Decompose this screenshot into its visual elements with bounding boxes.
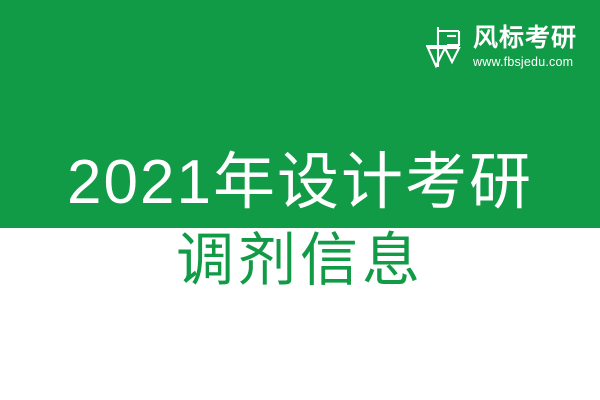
fbs-monogram-icon [423,24,465,70]
bottom-blank-area [0,300,600,400]
brand-url: www.fbsjedu.com [473,54,573,70]
headline-block: 2021年设计考研 调剂信息 [0,148,600,294]
promo-banner: 风标考研 www.fbsjedu.com 2021年设计考研 调剂信息 [0,0,600,400]
brand-text-block: 风标考研 www.fbsjedu.com [473,24,577,70]
brand-name: 风标考研 [473,25,577,52]
headline-line-1: 2021年设计考研 [0,148,600,218]
brand-lockup: 风标考研 www.fbsjedu.com [423,24,577,70]
headline-line-2: 调剂信息 [0,228,600,294]
